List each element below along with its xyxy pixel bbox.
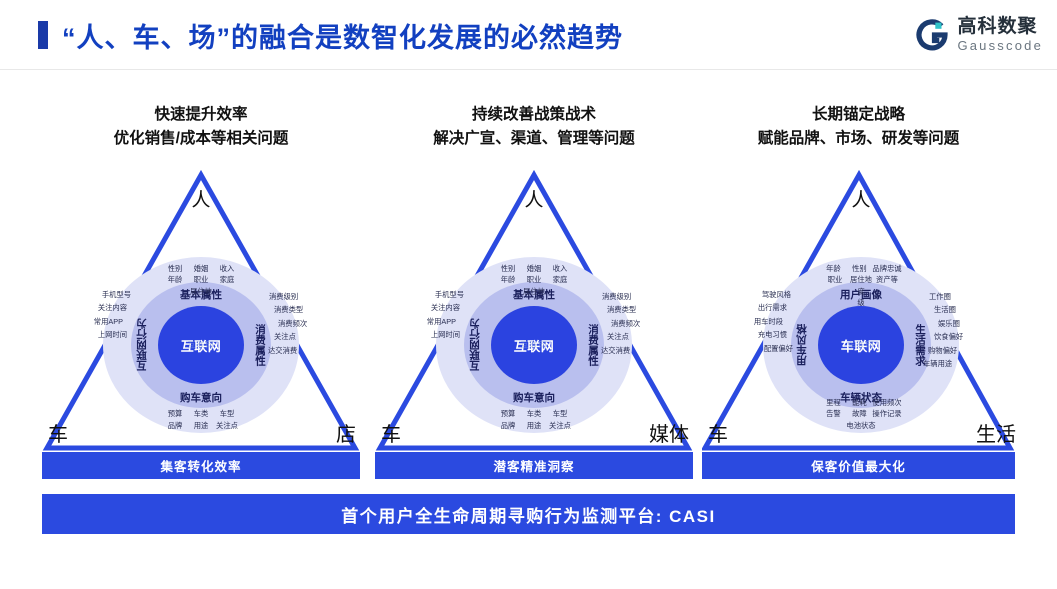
satellite-label: 级 bbox=[848, 297, 874, 308]
satellite-row: 职业居住地资产等 bbox=[820, 274, 901, 285]
ring-label-1-left: 互联网行为 bbox=[134, 319, 149, 372]
satellite-labels-1-left: 手机型号关注内容常用APP上网时间 bbox=[59, 285, 129, 345]
satellite-label: 上网时间 bbox=[59, 331, 127, 339]
outcome-bar-1: 集客转化效率 bbox=[42, 452, 360, 479]
satellite-label: 关注点 bbox=[214, 420, 240, 431]
satellite-label: 车类 bbox=[521, 408, 547, 419]
satellite-label: 消费级别 bbox=[602, 293, 678, 301]
satellite-label: 常用APP bbox=[392, 318, 456, 326]
platform-banner: 首个用户全生命周期寻购行为监测平台: CASI bbox=[42, 494, 1015, 534]
satellite-row: 年龄性别品牌忠诚 bbox=[820, 263, 901, 274]
satellite-label: 婚姻 bbox=[521, 263, 547, 274]
circle-diagram-1: 互联网 互联网 基本属性 购车意向 互联网行为 消费属性 性别婚姻收入年龄职业家… bbox=[103, 257, 299, 433]
satellite-label: 婚姻 bbox=[188, 263, 214, 274]
circle-diagram-3: 车联网 车联网 用户画像 车辆状态 用车风格 生活需求 年龄性别品牌忠诚职业居住… bbox=[763, 257, 959, 433]
column-heading-3-line2: 赋能品牌、市场、研发等问题 bbox=[702, 127, 1015, 151]
column-heading-3-line1: 长期锚定战略 bbox=[702, 103, 1015, 127]
triangle-2-corner-right: 媒体 bbox=[649, 418, 689, 447]
satellite-label: 上网时间 bbox=[392, 331, 460, 339]
satellite-row: 居住地 bbox=[162, 286, 240, 297]
triangle-1-corner-right: 店 bbox=[336, 418, 356, 447]
page-title: “人、车、场”的融合是数智化发展的必然趋势 bbox=[62, 16, 623, 55]
triangle-2-corner-top: 人 bbox=[524, 185, 543, 212]
satellite-label: 关注点 bbox=[547, 420, 573, 431]
satellite-row: 告警故障操作记录 bbox=[820, 408, 901, 419]
satellite-label: 故障 bbox=[846, 408, 872, 419]
circle-diagram-2: 互联网 互联网 基本属性 购车意向 互联网行为 消费属性 性别婚姻收入年龄职业家… bbox=[436, 257, 632, 433]
satellite-label: 职业 bbox=[521, 274, 547, 285]
column-heading-3: 长期锚定战略 赋能品牌、市场、研发等问题 bbox=[702, 103, 1015, 151]
satellite-label: 职业 bbox=[822, 274, 848, 285]
ring-label-2-right: 消费属性 bbox=[586, 324, 601, 366]
satellite-label: 消费类型 bbox=[607, 306, 678, 314]
ring-label-2-bottom: 购车意向 bbox=[513, 390, 555, 405]
satellite-label: 用途 bbox=[521, 420, 547, 431]
satellite-labels-3-left: 驾驶风格出行需求用车时段充电习惯配置偏好 bbox=[719, 285, 789, 358]
satellite-row: 居住地 bbox=[495, 286, 573, 297]
satellite-label: 关注内容 bbox=[392, 304, 460, 312]
satellite-labels-3-bottom: 里程能耗使用频次告警故障操作记录电池状态 bbox=[820, 397, 901, 431]
satellite-labels-2-bottom: 预算车类车型品牌用途关注点 bbox=[495, 408, 573, 431]
satellite-label: 出行需求 bbox=[719, 304, 787, 312]
satellite-row: 预算车类车型 bbox=[495, 408, 573, 419]
triangle-2-corner-left: 车 bbox=[381, 418, 401, 447]
satellite-row: 级 bbox=[820, 297, 901, 308]
satellite-row: 度 bbox=[820, 286, 901, 297]
satellite-label: 品牌 bbox=[495, 420, 521, 431]
ring-label-1-right: 消费属性 bbox=[253, 324, 268, 366]
satellite-labels-1-bottom: 预算车类车型品牌用途关注点 bbox=[162, 408, 240, 431]
satellite-label: 居住地 bbox=[188, 286, 214, 297]
satellite-label: 里程 bbox=[820, 397, 846, 408]
satellite-label: 预算 bbox=[495, 408, 521, 419]
satellite-label: 家庭 bbox=[547, 274, 573, 285]
satellite-row: 性别婚姻收入 bbox=[162, 263, 240, 274]
page-header: “人、车、场”的融合是数智化发展的必然趋势 高科数聚 Gausscode bbox=[0, 0, 1057, 70]
satellite-label: 手机型号 bbox=[59, 291, 131, 299]
outcome-bar-2: 潜客精准洞察 bbox=[375, 452, 693, 479]
triangle-panel-3: 人 车 生活 车联网 车联网 用户画像 车辆状态 用车风格 生活需求 年龄性别品… bbox=[702, 165, 1020, 455]
satellite-label: 预算 bbox=[162, 408, 188, 419]
satellite-label: 居住地 bbox=[848, 274, 874, 285]
triangle-1-corner-top: 人 bbox=[191, 185, 210, 212]
satellite-label: 度 bbox=[848, 286, 874, 297]
satellite-label: 车型 bbox=[214, 408, 240, 419]
satellite-label: 工作圈 bbox=[929, 293, 1005, 301]
satellite-label: 常用APP bbox=[59, 318, 123, 326]
satellite-label: 饮食偏好 bbox=[934, 333, 1005, 341]
triangle-1-corner-left: 车 bbox=[48, 418, 68, 447]
satellite-label: 娱乐圈 bbox=[938, 320, 1005, 328]
satellite-row: 品牌用途关注点 bbox=[495, 420, 573, 431]
satellite-label: 能耗 bbox=[846, 397, 872, 408]
satellite-label: 资产等 bbox=[874, 274, 900, 285]
satellite-labels-2-left: 手机型号关注内容常用APP上网时间 bbox=[392, 285, 462, 345]
satellite-label: 职业 bbox=[188, 274, 214, 285]
title-bullet-icon bbox=[38, 21, 48, 49]
satellite-label: 家庭 bbox=[214, 274, 240, 285]
satellite-label: 收入 bbox=[547, 263, 573, 274]
satellite-label: 车型 bbox=[547, 408, 573, 419]
satellite-label: 居住地 bbox=[521, 286, 547, 297]
satellite-label: 性别 bbox=[495, 263, 521, 274]
header-divider bbox=[0, 69, 1057, 70]
satellite-label: 告警 bbox=[820, 408, 846, 419]
satellite-row: 预算车类车型 bbox=[162, 408, 240, 419]
satellite-label: 用车时段 bbox=[719, 318, 783, 326]
logo-text-cn: 高科数聚 bbox=[957, 17, 1043, 36]
satellite-labels-3-top: 年龄性别品牌忠诚职业居住地资产等度级 bbox=[820, 263, 901, 308]
satellite-label: 消费级别 bbox=[269, 293, 345, 301]
triangle-3-corner-right: 生活 bbox=[976, 418, 1016, 447]
satellite-row: 品牌用途关注点 bbox=[162, 420, 240, 431]
satellite-label: 手机型号 bbox=[392, 291, 464, 299]
satellite-label: 年龄 bbox=[495, 274, 521, 285]
satellite-label: 配置偏好 bbox=[719, 345, 793, 353]
satellite-label: 收入 bbox=[214, 263, 240, 274]
satellite-row: 里程能耗使用频次 bbox=[820, 397, 901, 408]
satellite-label: 消费频次 bbox=[278, 320, 345, 328]
column-heading-1-line1: 快速提升效率 bbox=[42, 103, 360, 127]
satellite-label: 车类 bbox=[188, 408, 214, 419]
watermark-3: 车联网 bbox=[848, 340, 875, 351]
satellite-label: 关注内容 bbox=[59, 304, 127, 312]
satellite-row: 电池状态 bbox=[820, 420, 901, 431]
satellite-label: 使用频次 bbox=[872, 397, 901, 408]
column-heading-2: 持续改善战策战术 解决广宣、渠道、管理等问题 bbox=[375, 103, 693, 151]
satellite-label: 充电习惯 bbox=[719, 331, 787, 339]
ring-label-3-left: 用车风格 bbox=[794, 324, 809, 366]
triangle-3-corner-left: 车 bbox=[708, 418, 728, 447]
column-heading-2-line1: 持续改善战策战术 bbox=[375, 103, 693, 127]
satellite-label: 关注点 bbox=[607, 333, 678, 341]
satellite-label: 消费频次 bbox=[611, 320, 678, 328]
ring-label-2-left: 互联网行为 bbox=[467, 319, 482, 372]
satellite-label: 品牌忠诚 bbox=[872, 263, 901, 274]
satellite-label: 品牌 bbox=[162, 420, 188, 431]
column-heading-1-line2: 优化销售/成本等相关问题 bbox=[42, 127, 360, 151]
satellite-row: 性别婚姻收入 bbox=[495, 263, 573, 274]
satellite-label: 年龄 bbox=[820, 263, 846, 274]
satellite-label: 消费类型 bbox=[274, 306, 345, 314]
outcome-bar-3: 保客价值最大化 bbox=[702, 452, 1015, 479]
brand-logo: 高科数聚 Gausscode bbox=[915, 17, 1043, 52]
satellite-label: 达交消费 bbox=[268, 347, 345, 355]
triangle-panel-2: 人 车 媒体 互联网 互联网 基本属性 购车意向 互联网行为 消费属性 性别婚姻… bbox=[375, 165, 693, 455]
satellite-labels-2-right: 消费级别消费类型消费频次关注点达交消费 bbox=[604, 287, 678, 360]
satellite-label: 关注点 bbox=[274, 333, 345, 341]
triangle-panel-1: 人 车 店 互联网 互联网 基本属性 购车意向 互联网行为 消费属性 性别婚姻收… bbox=[42, 165, 360, 455]
satellite-row: 年龄职业家庭 bbox=[162, 274, 240, 285]
logo-text-en: Gausscode bbox=[957, 39, 1043, 52]
satellite-label: 操作记录 bbox=[872, 408, 901, 419]
satellite-row: 年龄职业家庭 bbox=[495, 274, 573, 285]
satellite-label: 电池状态 bbox=[846, 420, 875, 431]
satellite-labels-2-top: 性别婚姻收入年龄职业家庭居住地 bbox=[495, 263, 573, 297]
satellite-label: 用途 bbox=[188, 420, 214, 431]
ring-label-1-bottom: 购车意向 bbox=[180, 390, 222, 405]
satellite-label: 性别 bbox=[162, 263, 188, 274]
satellite-label: 生活圈 bbox=[934, 306, 1005, 314]
watermark-1: 互联网 bbox=[188, 340, 215, 351]
satellite-label: 购物偏好 bbox=[928, 347, 1005, 355]
satellite-labels-1-right: 消费级别消费类型消费频次关注点达交消费 bbox=[271, 287, 345, 360]
column-heading-2-line2: 解决广宣、渠道、管理等问题 bbox=[375, 127, 693, 151]
satellite-label: 车辆用途 bbox=[923, 360, 1005, 368]
column-heading-1: 快速提升效率 优化销售/成本等相关问题 bbox=[42, 103, 360, 151]
gausscode-logo-icon bbox=[915, 18, 949, 52]
satellite-label: 驾驶风格 bbox=[719, 291, 791, 299]
satellite-label: 年龄 bbox=[162, 274, 188, 285]
triangle-3-corner-top: 人 bbox=[851, 185, 870, 212]
satellite-label: 达交消费 bbox=[601, 347, 678, 355]
watermark-2: 互联网 bbox=[521, 340, 548, 351]
satellite-labels-3-right: 工作圈生活圈娱乐圈饮食偏好购物偏好车辆用途 bbox=[931, 287, 1005, 374]
satellite-label: 性别 bbox=[846, 263, 872, 274]
satellite-labels-1-top: 性别婚姻收入年龄职业家庭居住地 bbox=[162, 263, 240, 297]
